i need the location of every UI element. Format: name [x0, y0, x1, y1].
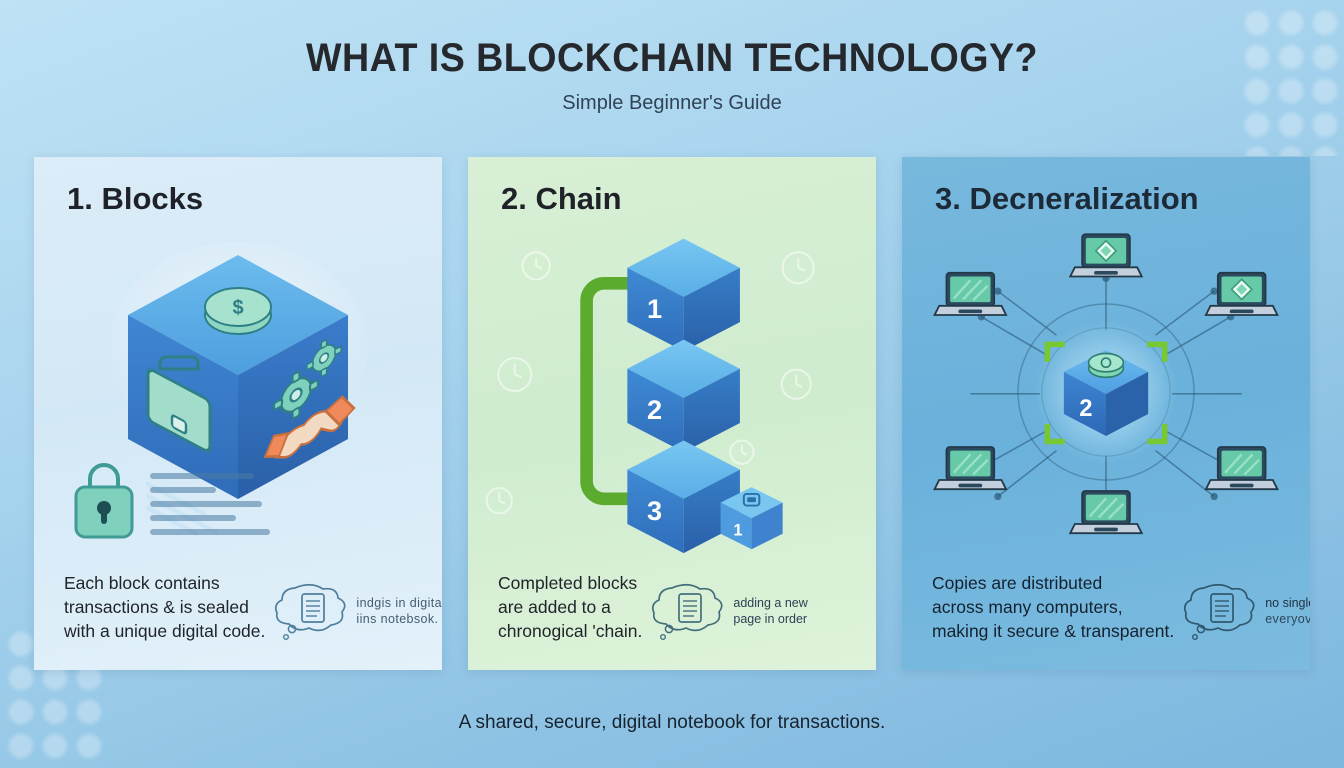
- clock-icon: [498, 358, 531, 391]
- panel-blocks-caption: Each block contains transactions & is se…: [64, 572, 265, 644]
- panel-chain-caption-row: Completed blocks are added to a chronogi…: [498, 572, 860, 644]
- svg-text:$: $: [232, 297, 243, 319]
- caption-line: Copies are distributed: [932, 572, 1174, 596]
- decentralization-illustration: 2: [902, 227, 1310, 557]
- notebook-page-icon: [275, 580, 349, 642]
- notebook-page-icon: [652, 580, 726, 642]
- chain-block-2: 2: [627, 340, 740, 453]
- notebook-page-icon: [1184, 580, 1258, 642]
- center-block-label: 2: [1079, 395, 1092, 422]
- caption-line: Completed blocks: [498, 572, 642, 596]
- bubble-note-line: everyovd hn a cryy: [1265, 611, 1310, 627]
- panel-chain-bubble-note: adding a new page in order: [733, 595, 807, 628]
- bubble-note-line: page in order: [733, 611, 807, 627]
- chain-block-label: 1: [647, 293, 662, 324]
- node-laptop-top: [1070, 234, 1142, 276]
- chain-block-label: 3: [647, 495, 662, 526]
- header: WHAT IS BLOCKCHAIN TECHNOLOGY? Simple Be…: [0, 36, 1344, 115]
- clock-icon: [783, 252, 814, 283]
- panel-chain-caption: Completed blocks are added to a chronogi…: [498, 572, 642, 644]
- caption-line: transactions & is sealed: [64, 596, 265, 620]
- panel-blocks-bubble: indgis in digital iins notebsok.: [275, 580, 442, 644]
- node-laptop-top-left: [935, 273, 1007, 315]
- panel-decentralization: 3. Decneralization: [902, 157, 1310, 670]
- caption-line: across many computers,: [932, 596, 1174, 620]
- footer-tagline: A shared, secure, digital notebook for t…: [0, 712, 1344, 734]
- node-laptop-top-right: [1206, 273, 1278, 315]
- ledger-icon: [1089, 354, 1124, 378]
- caption-line: are added to a: [498, 596, 642, 620]
- panel-decentralization-bubble-note: no single boss, everyovd hn a cryy: [1265, 595, 1310, 628]
- dollar-coin-icon: $: [205, 288, 271, 334]
- clock-icon: [730, 441, 753, 464]
- panel-blocks: 1. Blocks: [34, 157, 442, 670]
- padlock-badge-group: [76, 465, 270, 537]
- panel-chain: 2. Chain: [468, 157, 876, 670]
- panel-decentralization-bubble: no single boss, everyovd hn a cryy: [1184, 580, 1310, 644]
- panel-row: 1. Blocks: [34, 157, 1310, 670]
- caption-line: Each block contains: [64, 572, 265, 596]
- bubble-note-line: no single boss,: [1265, 595, 1310, 611]
- clock-icon: [523, 252, 550, 279]
- clock-icon: [782, 370, 811, 399]
- panel-blocks-heading: 1. Blocks: [67, 181, 203, 217]
- panel-chain-bubble: adding a new page in order: [652, 580, 860, 644]
- chain-block-3: 3: [627, 441, 740, 554]
- blocks-illustration: $: [34, 227, 442, 557]
- chain-small-block-label: 1: [733, 522, 742, 540]
- caption-line: chronogical 'chain.: [498, 620, 642, 644]
- padlock-icon: [76, 465, 132, 537]
- clock-icon: [487, 488, 512, 513]
- caption-line: with a unique digital code.: [64, 620, 265, 644]
- bubble-note-line: adding a new: [733, 595, 807, 611]
- caption-line: making it secure & transparent.: [932, 620, 1174, 644]
- panel-blocks-caption-row: Each block contains transactions & is se…: [64, 572, 426, 644]
- panel-blocks-bubble-note: indgis in digital iins notebsok.: [356, 595, 442, 628]
- panel-decentralization-caption: Copies are distributed across many compu…: [932, 572, 1174, 644]
- node-laptop-bottom: [1070, 491, 1142, 533]
- bubble-note-line: indgis in digital: [356, 595, 442, 611]
- panel-decentralization-heading: 3. Decneralization: [935, 181, 1199, 217]
- node-laptop-bottom-right: [1206, 447, 1278, 489]
- page-title: WHAT IS BLOCKCHAIN TECHNOLOGY?: [40, 36, 1303, 81]
- chain-block-1: 1: [627, 239, 740, 352]
- node-laptop-bottom-left: [935, 447, 1007, 489]
- chain-block-label: 2: [647, 394, 662, 425]
- panel-decentralization-caption-row: Copies are distributed across many compu…: [932, 572, 1294, 644]
- bubble-note-line: iins notebsok.: [356, 611, 442, 627]
- panel-chain-heading: 2. Chain: [501, 181, 622, 217]
- chain-illustration: 1 2 3: [468, 227, 876, 557]
- page-subtitle: Simple Beginner's Guide: [0, 92, 1344, 115]
